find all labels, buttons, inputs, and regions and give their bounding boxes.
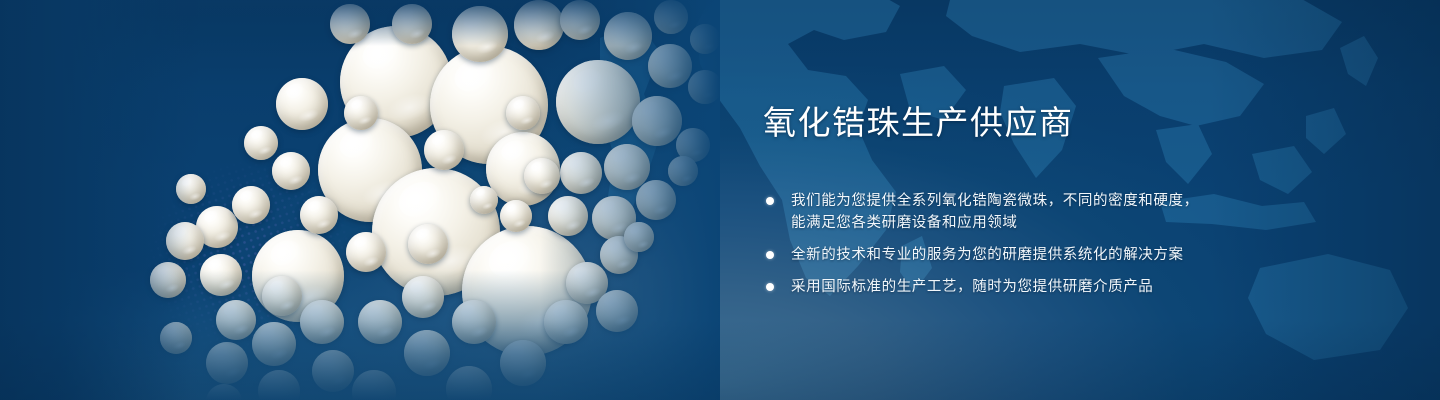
page-title: 氧化锆珠生产供应商 (763, 104, 1323, 142)
list-item-line: 能满足您各类研磨设备和应用领域 (791, 212, 1323, 234)
bullet-dot-icon (766, 251, 774, 259)
bullet-dot-icon (766, 197, 774, 205)
feature-list: 我们能为您提供全系列氧化锆陶瓷微珠，不同的密度和硬度， 能满足您各类研磨设备和应… (763, 190, 1323, 298)
list-item-line: 全新的技术和专业的服务为您的研磨提供系统化的解决方案 (791, 244, 1323, 266)
list-item-line: 我们能为您提供全系列氧化锆陶瓷微珠，不同的密度和硬度， (791, 190, 1323, 212)
banner-content: 氧化锆珠生产供应商 我们能为您提供全系列氧化锆陶瓷微珠，不同的密度和硬度， 能满… (763, 104, 1323, 298)
hero-banner: 氧化锆珠生产供应商 我们能为您提供全系列氧化锆陶瓷微珠，不同的密度和硬度， 能满… (0, 0, 1440, 400)
list-item: 我们能为您提供全系列氧化锆陶瓷微珠，不同的密度和硬度， 能满足您各类研磨设备和应… (763, 190, 1323, 234)
list-item: 全新的技术和专业的服务为您的研磨提供系统化的解决方案 (763, 244, 1323, 266)
list-item-line: 采用国际标准的生产工艺，随时为您提供研磨介质产品 (791, 276, 1323, 298)
bullet-dot-icon (766, 283, 774, 291)
list-item: 采用国际标准的生产工艺，随时为您提供研磨介质产品 (763, 276, 1323, 298)
